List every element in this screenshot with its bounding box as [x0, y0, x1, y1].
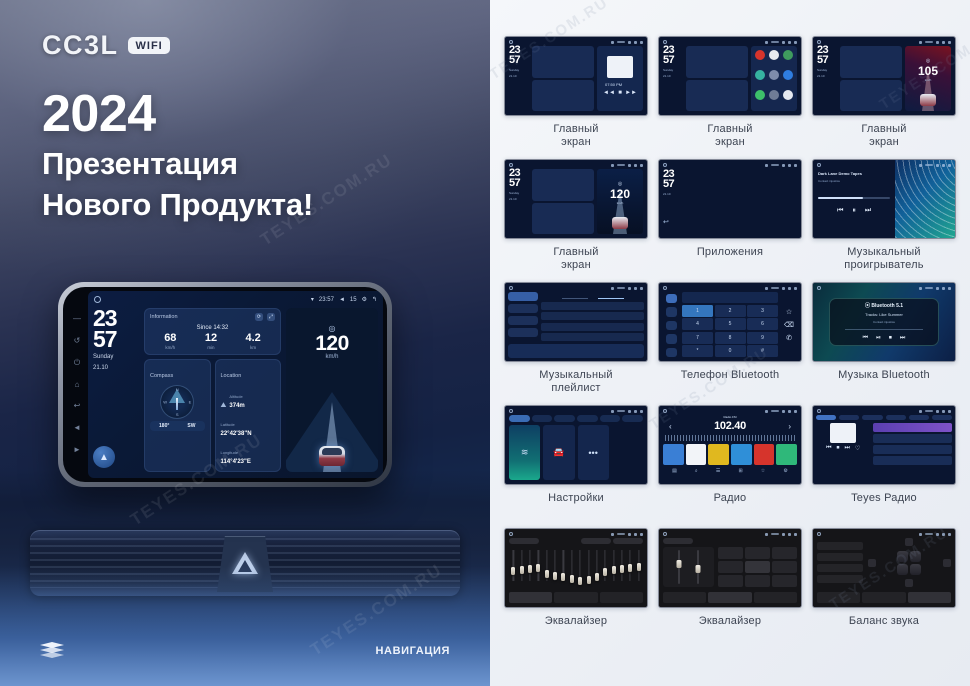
prev-icon[interactable]: ⏮ [863, 335, 868, 342]
eq-knob[interactable] [536, 564, 540, 572]
list-icon[interactable]: ☰ [716, 468, 720, 474]
eq-tab[interactable] [554, 592, 597, 603]
dialpad-tab-icon[interactable] [666, 294, 677, 303]
settings-tab[interactable] [622, 415, 643, 422]
teyes-tab[interactable] [816, 415, 836, 420]
screen-thumbnail[interactable]: ⏮ ⏹ ⏭ ♡ [812, 405, 956, 485]
radio-screen: Radio FM ‹ 102.40 › ▤ ⌕ ☰ ⊞ ☆ ⚙ [659, 406, 801, 484]
settings-icon[interactable]: ⚙ [783, 468, 787, 474]
information-widget[interactable]: Information ⟳ ⤢ Since 14:32 68 [144, 308, 281, 355]
expand-icon[interactable]: ⤢ [267, 313, 275, 321]
preset-station[interactable] [663, 444, 684, 465]
prev-station-icon[interactable]: ‹ [669, 422, 672, 431]
slider-knob[interactable] [676, 560, 681, 568]
eq-band[interactable] [635, 548, 642, 590]
category-item[interactable] [508, 292, 538, 301]
settings-gear-icon[interactable]: ⚙ [362, 296, 367, 303]
next-icon[interactable]: ►► [625, 90, 637, 96]
dial-key[interactable]: 1 [682, 305, 713, 317]
balance-up-arrow[interactable] [905, 538, 913, 546]
call-log-tab-icon[interactable] [666, 334, 677, 343]
equalizer-screen [505, 529, 647, 607]
volume-icon [782, 41, 785, 44]
list-item[interactable] [541, 323, 644, 331]
stat-speed-value: 68 [164, 333, 176, 344]
favorite-icon[interactable]: ☆ [761, 468, 765, 474]
eq-knob[interactable] [628, 564, 632, 572]
list-item[interactable] [873, 445, 952, 454]
dial-key[interactable]: 2 [715, 305, 746, 317]
volume-up-icon[interactable]: ► [73, 446, 81, 454]
eq-knob[interactable] [595, 573, 599, 581]
reset-icon[interactable]: ↺ [74, 337, 81, 345]
gallery-cell[interactable]: 23 57 21.10 ↩ Приложения [658, 159, 802, 272]
preset-button[interactable] [718, 547, 743, 559]
station-presets[interactable] [663, 444, 797, 465]
eq-band[interactable] [577, 548, 584, 590]
eq-band[interactable] [610, 548, 617, 590]
thumbnail-caption: Teyes Радио [851, 492, 917, 518]
bal-tab[interactable] [817, 592, 860, 603]
dial-key[interactable]: 8 [715, 332, 746, 344]
eq-band[interactable] [552, 548, 559, 590]
compass-west: W [163, 400, 167, 405]
head-unit-side-buttons[interactable]: — ↺ ⏻ ⌂ ↩ ◄ ► [66, 291, 88, 478]
screen-thumbnail[interactable] [504, 282, 648, 362]
eq-knob[interactable] [587, 576, 591, 584]
speed-readout: ◎ 120 km/h [597, 181, 643, 205]
dialpad[interactable]: 123456789*0# [682, 292, 778, 357]
play-pause-icon[interactable]: ⏯ [876, 335, 881, 342]
compass-location-widget[interactable] [686, 80, 748, 112]
preset-button[interactable] [745, 575, 770, 587]
back-arrow-icon[interactable]: ↩ [663, 218, 683, 226]
stat-speed-unit: km/h [164, 345, 176, 350]
gallery-cell[interactable]: Эквалайзер [658, 528, 802, 641]
search-tab-icon[interactable] [666, 321, 677, 330]
layers-icon[interactable] [40, 642, 64, 660]
app-icon[interactable] [769, 90, 779, 100]
progress-bar[interactable] [818, 197, 890, 199]
pause-icon[interactable]: ⏸ [852, 207, 856, 215]
volume-icon [628, 164, 631, 167]
preset-button[interactable] [745, 547, 770, 559]
latitude-value: 22°42'38"N [221, 431, 276, 438]
volume-icon [628, 533, 631, 536]
home-screen-layout: 23 57 Sunday 21.10 ◎ 120 km/h [505, 160, 647, 238]
seat[interactable] [910, 564, 921, 575]
seat[interactable] [897, 564, 908, 575]
seat-layout[interactable] [897, 551, 921, 575]
preset-button[interactable] [745, 561, 770, 573]
eq-icon[interactable]: ⊞ [738, 468, 742, 474]
home-circle-icon [663, 532, 667, 536]
eq-band[interactable] [602, 548, 609, 590]
home-circle-icon [663, 409, 667, 413]
information-widget[interactable] [532, 46, 594, 78]
eq-knob[interactable] [528, 565, 532, 573]
screen-thumbnail[interactable]: 23 57 Sunday 21.10 ◎ 120 km/h [504, 159, 648, 239]
gallery-row: Эквалайзер [504, 528, 956, 641]
clock-column: 23 57 Sunday 21.10 ▲ [93, 308, 139, 472]
balance-left-arrow[interactable] [868, 559, 876, 567]
back-arrow-icon [948, 410, 951, 413]
lead-car-graphic [319, 446, 345, 466]
search-icon[interactable]: ⌕ [695, 468, 698, 474]
slider-knob[interactable] [696, 565, 701, 573]
gallery-cell[interactable]: 23 57 Sunday 21.10 ◎ 105 km/h Главныйэкр… [812, 36, 956, 149]
band-icon[interactable]: ▤ [672, 468, 677, 474]
compass-location-widget[interactable] [840, 80, 902, 112]
eq-knob[interactable] [620, 565, 624, 573]
settings-gear-icon [942, 164, 945, 167]
eq-band[interactable] [527, 548, 534, 590]
eq-band[interactable] [593, 548, 600, 590]
screens-gallery: TEYES.COM.RU TEYES.COM.RU TEYES.COM.RU T… [490, 0, 970, 686]
balance-pad[interactable] [868, 538, 951, 587]
next-icon[interactable]: ⏭ [845, 445, 850, 452]
eq-tab[interactable] [754, 592, 797, 603]
eq-knob[interactable] [578, 577, 582, 585]
preset-button[interactable] [718, 561, 743, 573]
screen-thumbnail[interactable]: Dark Lane Demo Tapes Contact injustice ⏮… [812, 159, 956, 239]
thumbnail-caption: Радио [714, 492, 747, 518]
balance-down-arrow[interactable] [905, 579, 913, 587]
preset-station[interactable] [708, 444, 729, 465]
gain-sliders[interactable] [663, 547, 714, 587]
tab[interactable] [598, 298, 624, 300]
equalizer-footer[interactable] [509, 592, 643, 603]
back-icon[interactable]: ↩ [74, 402, 81, 410]
eq-knob[interactable] [570, 575, 574, 583]
list-item[interactable] [873, 434, 952, 443]
teyes-tabs[interactable] [816, 415, 952, 420]
preset-button[interactable] [718, 575, 743, 587]
gallery-row: 23 57 Sunday 21.10 07:50 PM ◄◄■►► Главны… [504, 36, 956, 149]
right-widget[interactable] [751, 46, 797, 111]
equalizer-bands[interactable] [509, 544, 643, 590]
list-item[interactable] [541, 312, 644, 320]
album-art [607, 56, 633, 78]
wifi-icon [765, 287, 768, 290]
product-logo: CC3L WIFI [42, 30, 170, 61]
visualizer [895, 160, 955, 238]
teyes-tab[interactable] [839, 415, 859, 420]
more-card[interactable]: ••• [578, 425, 609, 480]
frequency-scale[interactable] [665, 435, 795, 441]
screen-thumbnail[interactable]: Radio FM ‹ 102.40 › ▤ ⌕ ☰ ⊞ ☆ ⚙ [658, 405, 802, 485]
playlist-tabs[interactable] [541, 292, 644, 299]
wifi-icon [919, 164, 922, 167]
clock-minutes: 57 [817, 56, 837, 66]
screen-thumbnail[interactable]: ≋ 🚘 ••• [504, 405, 648, 485]
preset-button[interactable] [772, 547, 797, 559]
dial-key[interactable]: # [747, 345, 778, 357]
screen-thumbnail[interactable] [504, 528, 648, 608]
list-item[interactable] [541, 302, 644, 310]
teyes-tab[interactable] [909, 415, 929, 420]
preset-label [663, 538, 693, 544]
next-icon[interactable]: ⏭ [900, 335, 905, 342]
dial-key[interactable]: 7 [682, 332, 713, 344]
station-list[interactable] [873, 423, 952, 481]
home-circle-icon[interactable] [94, 296, 101, 303]
eq-track [580, 550, 581, 581]
speed-readout: ◎ 120 km/h [286, 324, 378, 360]
gallery-row: ≋ 🚘 ••• Настройки Radio FM ‹ 102.40 › [504, 405, 956, 518]
screen-thumbnail[interactable]: 23 57 21.10 ↩ [658, 159, 802, 239]
app-icon[interactable] [755, 90, 765, 100]
eq-band[interactable] [627, 548, 634, 590]
app-icon[interactable] [783, 50, 793, 60]
navigation-launch-button[interactable]: ▲ [93, 446, 115, 468]
settings-tab[interactable] [554, 415, 575, 422]
settings-tab-icon[interactable] [666, 348, 677, 357]
thumb-status-bar [509, 162, 643, 168]
settings-gear-icon [788, 410, 791, 413]
information-widget[interactable] [686, 46, 748, 78]
player-controls[interactable]: ⏮ ⏸ ⏭ [818, 207, 890, 215]
logo-text: CC3L [42, 30, 119, 61]
gallery-cell[interactable]: Баланс звука [812, 528, 956, 641]
keypad[interactable]: 123456789*0# [682, 305, 778, 357]
star-icon[interactable]: ☆ [786, 308, 792, 316]
wifi-icon [765, 533, 768, 536]
dial-key[interactable]: * [682, 345, 713, 357]
driving-view-widget[interactable]: ◎ 120 km/h [286, 308, 378, 472]
eq-knob[interactable] [603, 568, 607, 576]
refresh-icon[interactable]: ⟳ [255, 313, 263, 321]
balance-right-arrow[interactable] [943, 559, 951, 567]
gallery-cell[interactable]: 23 57 Sunday 21.10 Главныйэкран [658, 36, 802, 149]
clock-minutes: 57 [663, 56, 683, 66]
eq-knob[interactable] [553, 572, 557, 580]
eq-band[interactable] [560, 548, 567, 590]
seat[interactable] [910, 551, 921, 562]
dial-key[interactable]: 3 [747, 305, 778, 317]
dial-key[interactable]: 5 [715, 318, 746, 330]
stat-distance-value: 4.2 [245, 333, 260, 344]
bal-tab[interactable] [862, 592, 905, 603]
preset-station[interactable] [686, 444, 707, 465]
thumbnail-caption: Главныйэкран [861, 123, 906, 149]
app-icon[interactable] [755, 70, 765, 80]
screen-thumbnail[interactable]: 123456789*0# ☆ ⌫ ✆ [658, 282, 802, 362]
gallery-cell[interactable]: Музыкальныйплейлист [504, 282, 648, 395]
prev-icon[interactable]: ⏮ [826, 445, 831, 452]
eq-knob[interactable] [545, 570, 549, 578]
back-arrow-icon [948, 533, 951, 536]
head-unit-bezel: — ↺ ⏻ ⌂ ↩ ◄ ► ▾ 23:57 ◄ 15 [63, 287, 387, 482]
presentation-page: CC3L WIFI 2024 Презентация Нового Продук… [0, 0, 970, 686]
settings-tab[interactable] [600, 415, 621, 422]
preset-station[interactable] [776, 444, 797, 465]
equalizer-footer[interactable] [663, 592, 797, 603]
back-arrow-icon[interactable]: ↰ [372, 296, 377, 303]
eq-tab[interactable] [708, 592, 751, 603]
eq-band[interactable] [543, 548, 550, 590]
location-widget[interactable]: Location ⛰ Altitude 374m [215, 359, 282, 472]
radio-toolbar[interactable]: ▤ ⌕ ☰ ⊞ ☆ ⚙ [663, 468, 797, 474]
wifi-card[interactable]: ≋ [509, 425, 540, 480]
settings-tab[interactable] [509, 415, 530, 422]
bal-tab[interactable] [908, 592, 951, 603]
progress-bar[interactable] [845, 329, 923, 330]
gain-slider[interactable] [678, 550, 680, 584]
gallery-cell[interactable]: ⦿ Bluetooth 5.1 Tracks: Like Summer Cont… [812, 282, 956, 395]
backspace-icon[interactable]: ⌫ [784, 321, 794, 329]
phone-nav[interactable] [663, 292, 679, 357]
speed-value: 120 [286, 333, 378, 354]
screen-thumbnail[interactable] [658, 528, 802, 608]
eq-knob[interactable] [520, 566, 524, 574]
player-controls[interactable]: ⏮ ⏹ ⏭ ♡ [826, 445, 860, 452]
media-time: 07:50 PM [605, 82, 622, 87]
minus-icon[interactable]: — [73, 315, 81, 323]
dial-key[interactable]: 6 [747, 318, 778, 330]
dial-key[interactable]: 9 [747, 332, 778, 344]
prev-icon[interactable]: ◄◄ [603, 90, 615, 96]
navigation-label: НАВИГАЦИЯ [376, 645, 450, 657]
eq-tab[interactable] [509, 592, 552, 603]
contacts-tab-icon[interactable] [666, 307, 677, 316]
eq-band[interactable] [585, 548, 592, 590]
category-item[interactable] [508, 328, 538, 337]
eq-tab[interactable] [663, 592, 706, 603]
settings-tabs[interactable] [509, 415, 643, 422]
dial-key[interactable]: 4 [682, 318, 713, 330]
eq-tab[interactable] [600, 592, 643, 603]
dial-key[interactable]: 0 [715, 345, 746, 357]
preset-station[interactable] [754, 444, 775, 465]
app-icon[interactable] [783, 90, 793, 100]
stop-icon[interactable]: ⏹ [836, 445, 839, 452]
screen-thumbnail[interactable]: 23 57 Sunday 21.10 ◎ 105 km/h [812, 36, 956, 116]
wifi-icon [919, 533, 922, 536]
eq-knob[interactable] [637, 563, 641, 571]
now-playing-bar[interactable] [508, 344, 644, 358]
app-icon[interactable] [769, 70, 779, 80]
favorite-icon[interactable]: ♡ [855, 445, 860, 452]
eq-band[interactable] [618, 548, 625, 590]
teyes-tab[interactable] [932, 415, 952, 420]
settings-cards[interactable]: ≋ 🚘 ••• [509, 425, 643, 480]
track-artist: Contact injustice [818, 179, 890, 183]
stop-icon[interactable]: ⏹ [889, 335, 892, 342]
right-widget[interactable]: ◎ 120 km/h [597, 169, 643, 234]
gallery-cell[interactable]: ⏮ ⏹ ⏭ ♡ Teyes Радио [812, 405, 956, 518]
eq-band[interactable] [510, 548, 517, 590]
next-station-icon[interactable]: › [788, 422, 791, 431]
gain-slider[interactable] [697, 550, 699, 584]
player-controls[interactable]: ⏮ ⏯ ⏹ ⏭ [863, 335, 906, 342]
clock-icon [771, 41, 779, 44]
preset-grid[interactable] [718, 547, 797, 587]
gallery-cell[interactable]: Dark Lane Demo Tapes Contact injustice ⏮… [812, 159, 956, 272]
screen-thumbnail[interactable] [812, 528, 956, 608]
clock-icon [771, 533, 779, 536]
list-item[interactable] [873, 423, 952, 432]
head-unit-device: — ↺ ⏻ ⌂ ↩ ◄ ► ▾ 23:57 ◄ 15 [58, 282, 392, 487]
tab[interactable] [562, 298, 588, 300]
wifi-icon [611, 533, 614, 536]
quick-apps-grid[interactable] [755, 50, 793, 107]
thumb-status-bar [663, 408, 797, 414]
teyes-tab[interactable] [862, 415, 882, 420]
latitude-label: Latitude [221, 422, 235, 427]
eq-band[interactable] [518, 548, 525, 590]
seat[interactable] [897, 551, 908, 562]
settings-gear-icon [634, 533, 637, 536]
information-widget[interactable] [840, 46, 902, 78]
prev-icon[interactable]: ⏮ [837, 207, 843, 215]
gallery-cell[interactable]: 23 57 Sunday 21.10 ◎ 120 km/h Главныйэкр… [504, 159, 648, 272]
app-icon[interactable] [755, 50, 765, 60]
eq-track [513, 550, 514, 581]
eq-band[interactable] [535, 548, 542, 590]
gallery-cell[interactable]: ≋ 🚘 ••• Настройки [504, 405, 648, 518]
app-grid[interactable] [687, 170, 796, 234]
balance-footer[interactable] [817, 592, 951, 603]
power-icon[interactable]: ⏻ [74, 359, 80, 367]
compass-location-widget[interactable] [532, 80, 594, 112]
right-widget[interactable]: 07:50 PM ◄◄■►► [597, 46, 643, 111]
gallery-cell[interactable]: 23 57 Sunday 21.10 07:50 PM ◄◄■►► Главны… [504, 36, 648, 149]
information-widget[interactable] [532, 169, 594, 201]
list-item[interactable] [873, 456, 952, 465]
preset-button[interactable] [772, 575, 797, 587]
eq-knob[interactable] [511, 567, 515, 575]
gallery-cell[interactable]: Эквалайзер [504, 528, 648, 641]
compass-location-widget[interactable] [532, 203, 594, 235]
preset-station[interactable] [731, 444, 752, 465]
home-icon[interactable]: ⌂ [75, 381, 80, 389]
app-icon[interactable] [783, 70, 793, 80]
right-widget[interactable]: ◎ 105 km/h [905, 46, 951, 111]
category-item[interactable] [508, 316, 538, 325]
call-icon[interactable]: ✆ [786, 334, 792, 342]
app-icon[interactable] [769, 50, 779, 60]
head-unit-screen[interactable]: ▾ 23:57 ◄ 15 ⚙ ↰ 23 57 [88, 291, 383, 478]
settings-tab[interactable] [577, 415, 598, 422]
volume-down-icon[interactable]: ◄ [73, 424, 81, 432]
gallery-cell[interactable]: Radio FM ‹ 102.40 › ▤ ⌕ ☰ ⊞ ☆ ⚙ [658, 405, 802, 518]
settings-tab[interactable] [532, 415, 553, 422]
number-input[interactable] [682, 292, 778, 303]
volume-icon [782, 164, 785, 167]
teyes-tab[interactable] [886, 415, 906, 420]
eq-knob[interactable] [612, 566, 616, 574]
compass-widget[interactable]: Compass N S W E [144, 359, 211, 472]
media-controls[interactable]: ◄◄■►► [603, 90, 637, 96]
phone-actions[interactable]: ☆ ⌫ ✆ [781, 292, 797, 357]
next-icon[interactable]: ⏭ [865, 207, 871, 215]
gallery-row: 23 57 Sunday 21.10 ◎ 120 km/h Главныйэкр… [504, 159, 956, 272]
category-item[interactable] [508, 304, 538, 313]
screen-thumbnail[interactable]: 23 57 Sunday 21.10 [658, 36, 802, 116]
carplay-card[interactable]: 🚘 [543, 425, 574, 480]
eq-knob[interactable] [561, 573, 565, 581]
screen-thumbnail[interactable]: 23 57 Sunday 21.10 07:50 PM ◄◄■►► [504, 36, 648, 116]
screen-thumbnail[interactable]: ⦿ Bluetooth 5.1 Tracks: Like Summer Cont… [812, 282, 956, 362]
gallery-cell[interactable]: 123456789*0# ☆ ⌫ ✆ Телефон Bluetooth [658, 282, 802, 395]
stop-icon[interactable]: ■ [618, 90, 622, 96]
list-item[interactable] [541, 333, 644, 341]
preset-button[interactable] [772, 561, 797, 573]
frequency-row[interactable]: ‹ 102.40 › [663, 420, 797, 432]
eq-band[interactable] [568, 548, 575, 590]
back-arrow-icon [948, 287, 951, 290]
